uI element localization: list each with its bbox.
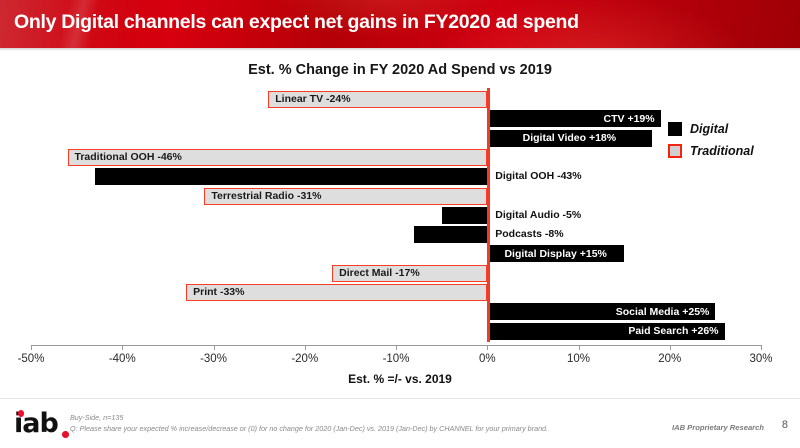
chart-bar-label: Terrestrial Radio -31% <box>211 191 321 202</box>
chart-bar[interactable]: Print -33% <box>186 284 487 301</box>
x-axis-tick-label: -40% <box>109 353 136 365</box>
page-title: Only Digital channels can expect net gai… <box>14 11 579 34</box>
chart-bar-row: Linear TV -24% <box>31 91 761 108</box>
chart-bar-row: Podcasts -8% <box>31 226 761 243</box>
legend-item-digital: Digital <box>668 118 754 140</box>
legend-label-digital: Digital <box>690 122 728 136</box>
chart-bar[interactable] <box>414 226 487 243</box>
header-shadow <box>0 48 800 51</box>
chart-bar-row: Digital Display +15% <box>31 245 761 262</box>
x-axis-tick-label: 20% <box>658 353 681 365</box>
chart-bar[interactable] <box>442 207 488 224</box>
chart-bar-row: Paid Search +26% <box>31 323 761 340</box>
chart-bar[interactable]: Paid Search +26% <box>487 323 724 340</box>
chart-bar-row: Direct Mail -17% <box>31 265 761 282</box>
x-axis-tick <box>305 345 306 350</box>
chart-bar[interactable]: Terrestrial Radio -31% <box>204 188 487 205</box>
x-axis-tick <box>579 345 580 350</box>
legend-swatch-digital-icon <box>668 122 682 136</box>
chart-bar[interactable]: Social Media +25% <box>487 303 715 320</box>
x-axis-tick-label: -30% <box>200 353 227 365</box>
x-axis-tick-label: 30% <box>749 353 772 365</box>
chart-bar-label: Paid Search +26% <box>628 326 718 337</box>
legend-item-traditional: Traditional <box>668 140 754 162</box>
chart-bar-row: Digital OOH -43% <box>31 168 761 185</box>
x-axis-tick <box>396 345 397 350</box>
chart-bar[interactable]: CTV +19% <box>487 110 660 127</box>
chart-bar-label: Traditional OOH -46% <box>75 152 182 163</box>
chart-bar[interactable]: Linear TV -24% <box>268 91 487 108</box>
chart-bar-label: Digital Video +18% <box>523 133 616 144</box>
chart-legend: Digital Traditional <box>668 118 754 162</box>
x-axis-tick-label: -10% <box>383 353 410 365</box>
chart-bar-label: Digital Display +15% <box>504 249 606 260</box>
chart-bar-row: Print -33% <box>31 284 761 301</box>
chart-bar[interactable]: Digital Display +15% <box>487 245 624 262</box>
chart-bar-label: Linear TV -24% <box>275 94 350 105</box>
x-axis-tick-label: -20% <box>291 353 318 365</box>
chart-plot-area: Linear TV -24%CTV +19%Digital Video +18%… <box>31 90 761 342</box>
chart-bar-row: Digital Audio -5% <box>31 207 761 224</box>
chart-bar-label: Social Media +25% <box>616 307 710 318</box>
x-axis-tick <box>122 345 123 350</box>
footnote: Buy-Side, n=135 Q: Please share your exp… <box>70 412 548 434</box>
chart-bar-row: Traditional OOH -46% <box>31 149 761 166</box>
x-axis-tick <box>670 345 671 350</box>
chart-bar[interactable]: Digital Video +18% <box>487 130 651 147</box>
chart-bar-label: Direct Mail -17% <box>339 268 420 279</box>
chart-bar-row: Digital Video +18% <box>31 130 761 147</box>
x-axis-tick-label: -50% <box>18 353 45 365</box>
logo-dot-icon <box>18 410 25 417</box>
footnote-line-2: Q: Please share your expected % increase… <box>70 423 548 434</box>
footer-divider <box>0 398 800 399</box>
proprietary-research-note: IAB Proprietary Research <box>672 423 764 432</box>
header-banner: Only Digital channels can expect net gai… <box>0 0 800 48</box>
logo-period-icon <box>62 431 69 438</box>
x-axis-tick <box>487 345 488 350</box>
chart-bar-row: Terrestrial Radio -31% <box>31 188 761 205</box>
chart-bar-label: Podcasts -8% <box>495 227 563 242</box>
legend-label-traditional: Traditional <box>690 144 754 158</box>
legend-swatch-traditional-icon <box>668 144 682 158</box>
x-axis-tick <box>31 345 32 350</box>
x-axis-tick <box>214 345 215 350</box>
x-axis-title: Est. % =/- vs. 2019 <box>0 372 800 386</box>
chart-title: Est. % Change in FY 2020 Ad Spend vs 201… <box>0 62 800 78</box>
chart-bar[interactable] <box>95 168 487 185</box>
zero-axis-line <box>487 88 490 342</box>
chart-bar-row: Social Media +25% <box>31 303 761 320</box>
chart-bar[interactable]: Direct Mail -17% <box>332 265 487 282</box>
page-number: 8 <box>782 419 788 431</box>
chart-bar[interactable]: Traditional OOH -46% <box>68 149 488 166</box>
x-axis-tick-label: 0% <box>479 353 496 365</box>
footnote-line-1: Buy-Side, n=135 <box>70 412 548 423</box>
chart-bar-label: Digital Audio -5% <box>495 208 581 223</box>
x-axis-tick <box>761 345 762 350</box>
chart-bar-label: Print -33% <box>193 287 244 298</box>
chart-bar-label: Digital OOH -43% <box>495 169 581 184</box>
chart-bar-label: CTV +19% <box>604 114 655 125</box>
chart-bar-row: CTV +19% <box>31 110 761 127</box>
x-axis-tick-label: 10% <box>567 353 590 365</box>
